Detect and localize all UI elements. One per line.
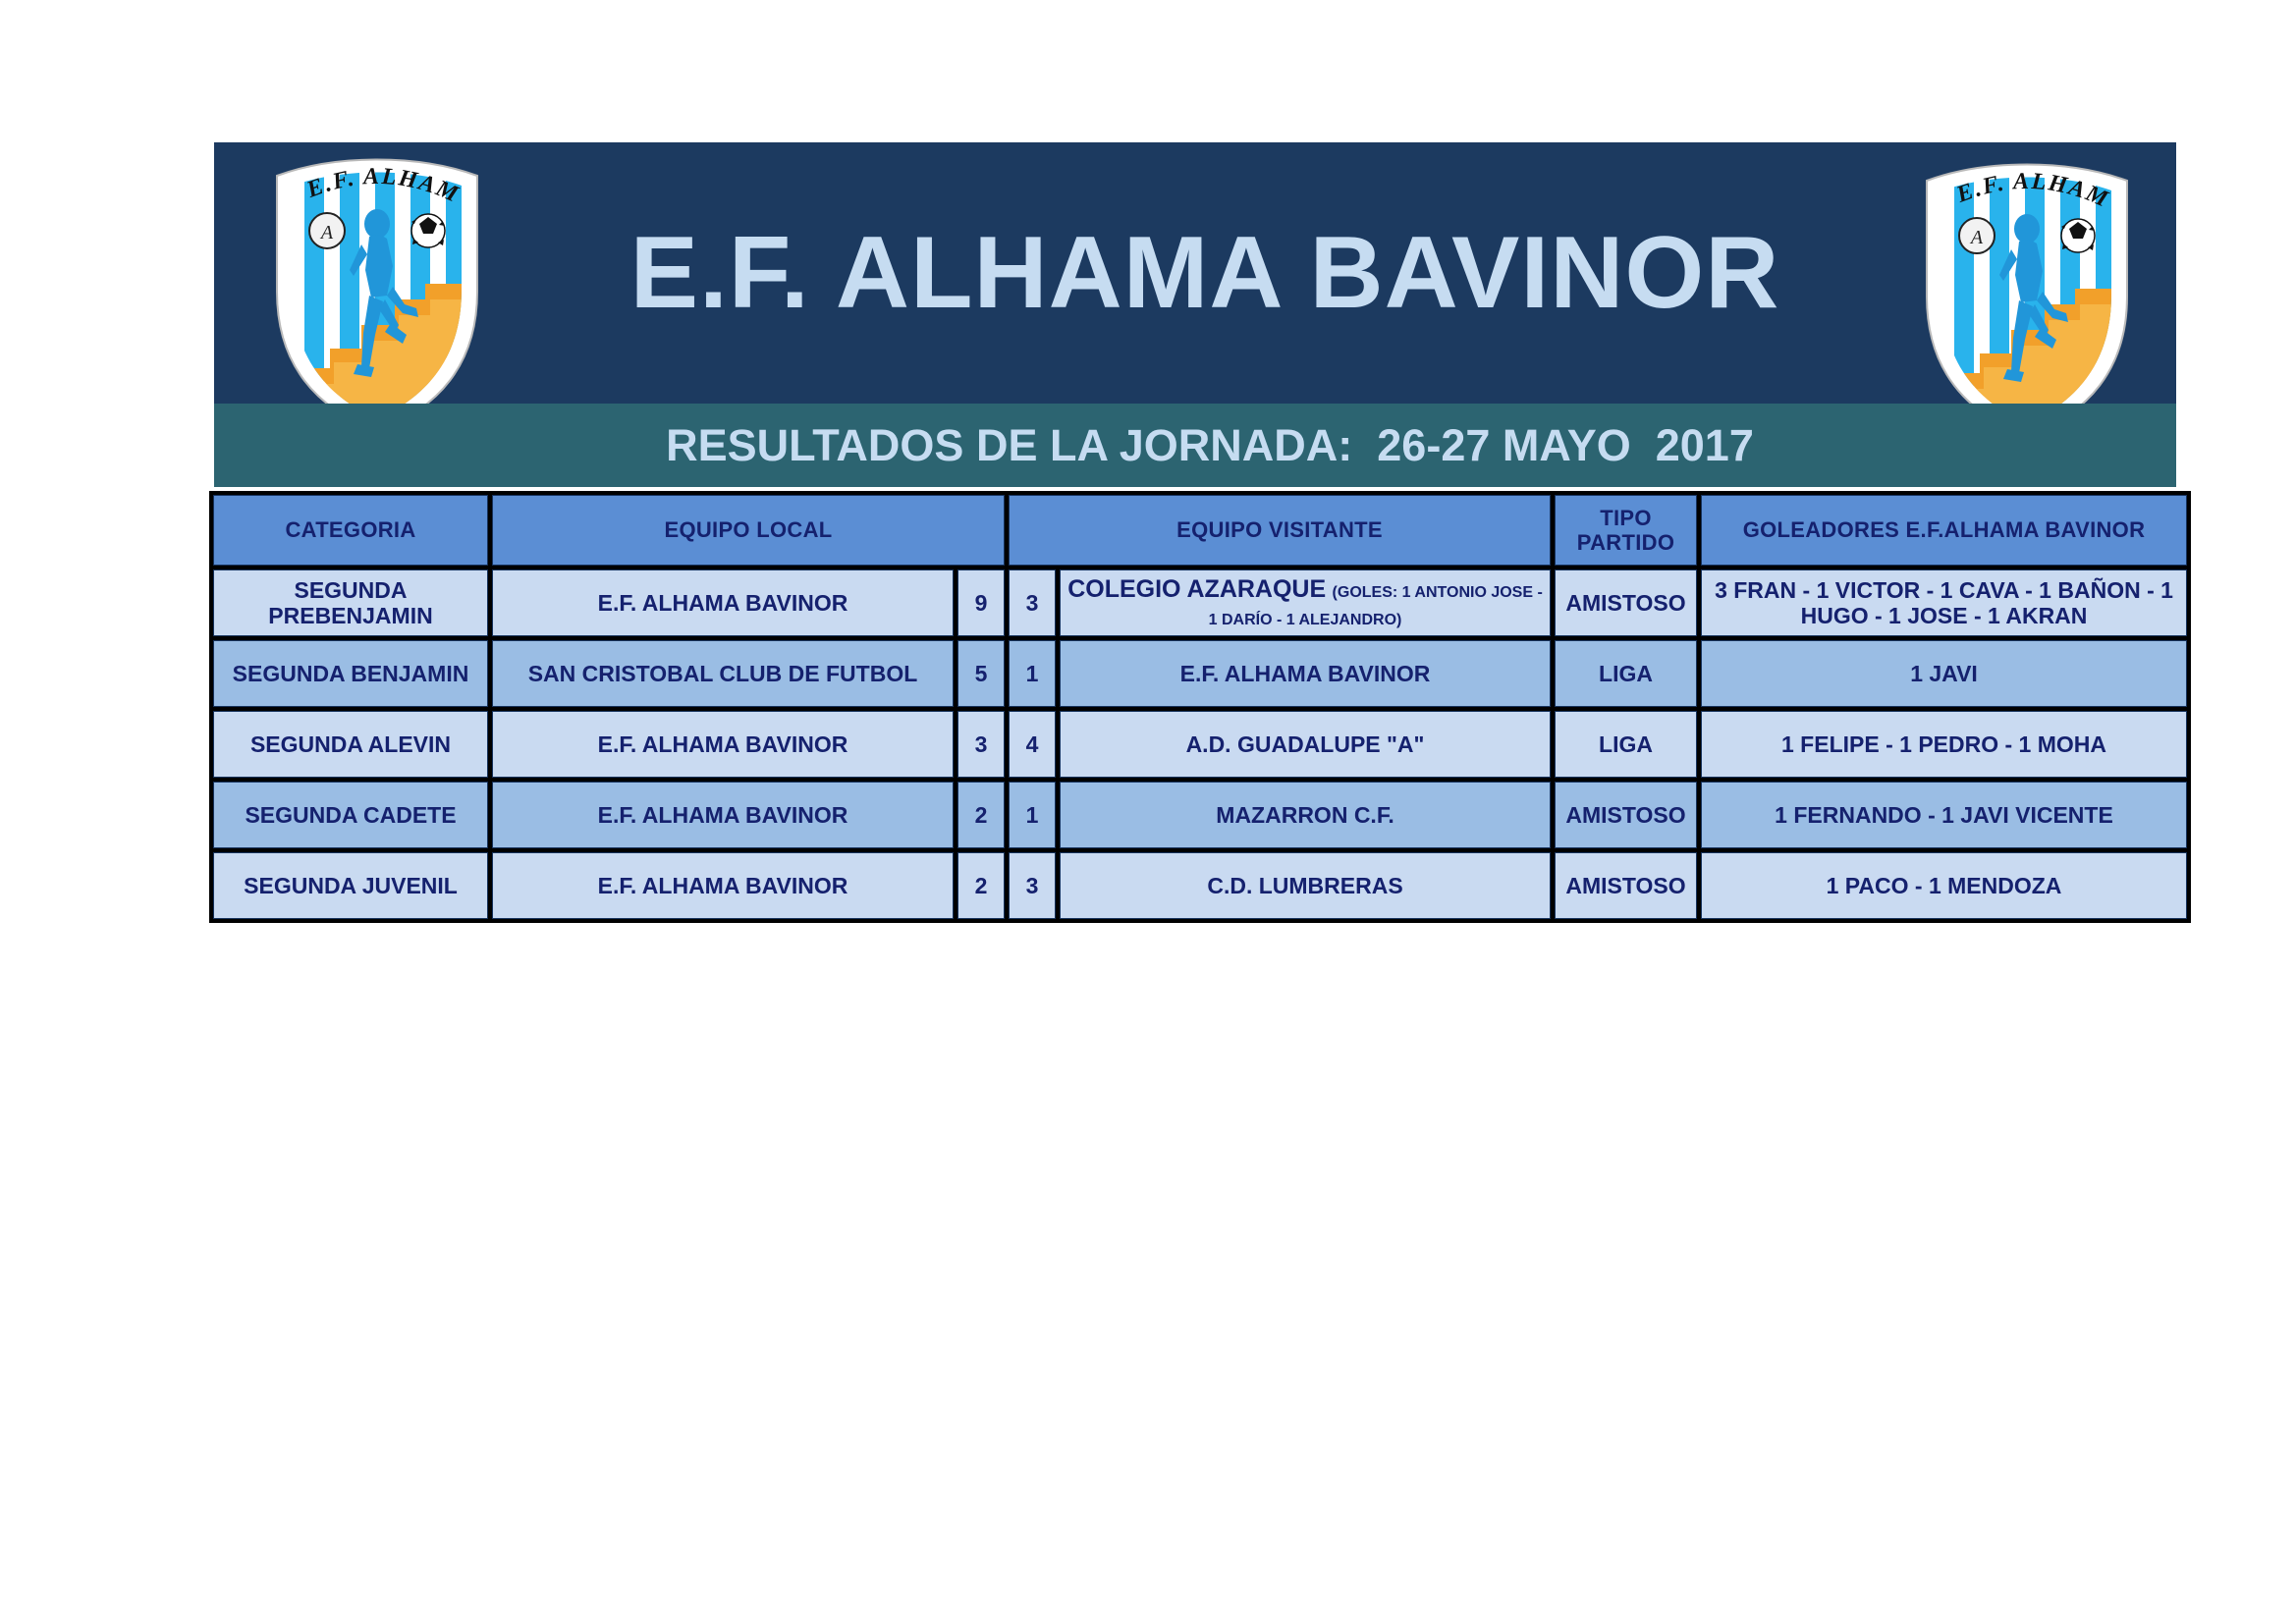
cell-goles-visitante: 3: [1009, 852, 1056, 919]
header-banner: E.F. ALHAMA BAVINOR: [214, 142, 2176, 404]
cell-equipo-visitante: COLEGIO AZARAQUE (GOLES: 1 ANTONIO JOSE …: [1060, 569, 1551, 636]
cell-categoria: SEGUNDA PREBENJAMIN: [213, 569, 488, 636]
column-header-tipo-partido[interactable]: TIPO PARTIDO: [1555, 495, 1697, 566]
cell-categoria: SEGUNDA JUVENIL: [213, 852, 488, 919]
cell-tipo-partido: AMISTOSO: [1555, 852, 1697, 919]
page-root: E.F. ALHAMA BAVINOR: [0, 0, 2296, 1624]
svg-text:A: A: [1969, 227, 1984, 248]
column-header-equipo-visitante[interactable]: EQUIPO VISITANTE: [1009, 495, 1551, 566]
cell-equipo-visitante: A.D. GUADALUPE "A": [1060, 711, 1551, 778]
cell-equipo-local: E.F. ALHAMA BAVINOR: [492, 852, 954, 919]
results-table-body: SEGUNDA PREBENJAMIN E.F. ALHAMA BAVINOR …: [213, 569, 2187, 919]
cell-equipo-local: E.F. ALHAMA BAVINOR: [492, 569, 954, 636]
results-table: CATEGORIA EQUIPO LOCAL EQUIPO VISITANTE …: [209, 491, 2191, 923]
cell-goles-local: 2: [957, 782, 1005, 848]
cell-equipo-visitante: E.F. ALHAMA BAVINOR: [1060, 640, 1551, 707]
column-header-equipo-local[interactable]: EQUIPO LOCAL: [492, 495, 1005, 566]
cell-equipo-local: SAN CRISTOBAL CLUB DE FUTBOL: [492, 640, 954, 707]
cell-tipo-partido: LIGA: [1555, 711, 1697, 778]
cell-equipo-local: E.F. ALHAMA BAVINOR: [492, 782, 954, 848]
column-header-goleadores[interactable]: GOLEADORES E.F.ALHAMA BAVINOR: [1701, 495, 2187, 566]
cell-categoria: SEGUNDA ALEVIN: [213, 711, 488, 778]
cell-goles-visitante: 4: [1009, 711, 1056, 778]
svg-text:A: A: [319, 222, 334, 244]
results-table-wrapper: CATEGORIA EQUIPO LOCAL EQUIPO VISITANTE …: [209, 491, 2183, 923]
cell-equipo-visitante: MAZARRON C.F.: [1060, 782, 1551, 848]
cell-categoria: SEGUNDA BENJAMIN: [213, 640, 488, 707]
table-row[interactable]: SEGUNDA ALEVIN E.F. ALHAMA BAVINOR 3 4 A…: [213, 711, 2187, 778]
cell-tipo-partido: LIGA: [1555, 640, 1697, 707]
jornada-subtitle-bar: RESULTADOS DE LA JORNADA: 26-27 MAYO 201…: [214, 404, 2176, 487]
column-header-categoria[interactable]: CATEGORIA: [213, 495, 488, 566]
cell-tipo-partido: AMISTOSO: [1555, 782, 1697, 848]
cell-goles-visitante: 3: [1009, 569, 1056, 636]
table-row[interactable]: SEGUNDA JUVENIL E.F. ALHAMA BAVINOR 2 3 …: [213, 852, 2187, 919]
cell-goleadores: 1 PACO - 1 MENDOZA: [1701, 852, 2187, 919]
club-crest-right-icon: A E.F. ALHAMA: [1913, 157, 2141, 437]
club-crest-left-icon: A E.F. ALHAMA: [263, 152, 491, 432]
table-row[interactable]: SEGUNDA CADETE E.F. ALHAMA BAVINOR 2 1 M…: [213, 782, 2187, 848]
table-row[interactable]: SEGUNDA PREBENJAMIN E.F. ALHAMA BAVINOR …: [213, 569, 2187, 636]
cell-goleadores: 3 FRAN - 1 VICTOR - 1 CAVA - 1 BAÑON - 1…: [1701, 569, 2187, 636]
tipo-partido-line2: PARTIDO: [1577, 530, 1674, 555]
cell-goleadores: 1 JAVI: [1701, 640, 2187, 707]
cell-goleadores: 1 FELIPE - 1 PEDRO - 1 MOHA: [1701, 711, 2187, 778]
cell-categoria: SEGUNDA CADETE: [213, 782, 488, 848]
cell-tipo-partido: AMISTOSO: [1555, 569, 1697, 636]
cell-equipo-visitante: C.D. LUMBRERAS: [1060, 852, 1551, 919]
page-title: E.F. ALHAMA BAVINOR: [214, 142, 2176, 404]
cell-goles-visitante: 1: [1009, 640, 1056, 707]
cell-goles-local: 2: [957, 852, 1005, 919]
cell-goleadores: 1 FERNANDO - 1 JAVI VICENTE: [1701, 782, 2187, 848]
jornada-subtitle-text: RESULTADOS DE LA JORNADA: 26-27 MAYO 201…: [214, 404, 2176, 487]
table-header-row: CATEGORIA EQUIPO LOCAL EQUIPO VISITANTE …: [213, 495, 2187, 566]
cell-goles-local: 5: [957, 640, 1005, 707]
cell-goles-local: 3: [957, 711, 1005, 778]
cell-goles-visitante: 1: [1009, 782, 1056, 848]
visitante-nombre: COLEGIO AZARAQUE: [1067, 575, 1326, 603]
tipo-partido-line1: TIPO: [1600, 506, 1652, 530]
cell-goles-local: 9: [957, 569, 1005, 636]
cell-equipo-local: E.F. ALHAMA BAVINOR: [492, 711, 954, 778]
table-row[interactable]: SEGUNDA BENJAMIN SAN CRISTOBAL CLUB DE F…: [213, 640, 2187, 707]
